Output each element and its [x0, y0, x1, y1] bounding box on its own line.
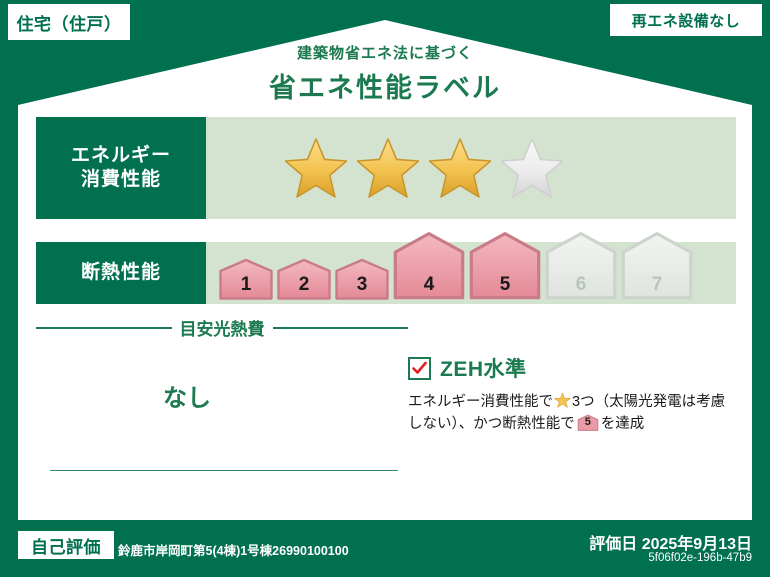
energy-performance-row: エネルギー 消費性能	[36, 117, 736, 219]
page-title: 省エネ性能ラベル	[0, 66, 770, 105]
insulation-rank-number: 4	[392, 274, 466, 296]
energy-performance-value	[206, 117, 736, 219]
rule-right	[273, 327, 409, 329]
zeh-desc-part1: エネルギー消費性能で	[408, 394, 553, 410]
insulation-rank-scale: 1234567	[206, 242, 696, 304]
house-type-badge: 住宅（住戸）	[8, 4, 130, 40]
insulation-rank-number: 1	[218, 274, 274, 296]
insulation-rank-number: 5	[468, 274, 542, 296]
footer: 自己評価 鈴鹿市岸岡町第5(4棟)1号棟26990100100 評価日 2025…	[0, 520, 770, 577]
insulation-rank-5: 5	[468, 231, 542, 300]
property-address: 鈴鹿市岸岡町第5(4棟)1号棟26990100100	[118, 540, 349, 559]
star-icon-filled	[428, 136, 492, 200]
insulation-rank-number: 7	[620, 274, 694, 296]
inline-rank-badge: 5	[577, 414, 599, 431]
inline-rank-number: 5	[577, 414, 599, 431]
insulation-performance-label: 断熱性能	[36, 242, 206, 304]
energy-label-line1: エネルギー	[71, 145, 171, 166]
zeh-desc-part3: を達成	[601, 416, 645, 432]
zeh-block: ZEH水準 エネルギー消費性能で3つ（太陽光発電は考慮しない）、かつ断熱性能で5…	[408, 315, 736, 485]
zeh-description: エネルギー消費性能で3つ（太陽光発電は考慮しない）、かつ断熱性能で5を達成	[408, 391, 736, 436]
insulation-rank-number: 2	[276, 274, 332, 296]
self-evaluation-badge: 自己評価	[18, 531, 114, 559]
insulation-rank-4: 4	[392, 231, 466, 300]
utility-cost-block: 目安光熱費 なし	[36, 315, 408, 485]
renewable-equipment-badge: 再エネ設備なし	[610, 4, 762, 36]
energy-label-document: 住宅（住戸） 再エネ設備なし 建築物省エネ法に基づく 省エネ性能ラベル エネルギ…	[0, 0, 770, 577]
insulation-rank-3: 3	[334, 258, 390, 300]
insulation-performance-value: 1234567	[206, 242, 736, 304]
document-id: 5f06f02e-196b-47b9	[648, 552, 752, 564]
zeh-checkbox[interactable]	[408, 357, 431, 380]
insulation-rank-1: 1	[218, 258, 274, 300]
star-rating	[206, 136, 564, 200]
title-subtitle: 建築物省エネ法に基づく	[0, 42, 770, 63]
lower-section: 目安光熱費 なし ZEH水準 エネルギー消費性能で3つ（太陽光発電は考慮しない）…	[36, 315, 736, 485]
energy-label-line2: 消費性能	[81, 169, 161, 190]
insulation-rank-number: 6	[544, 274, 618, 296]
title-block: 建築物省エネ法に基づく 省エネ性能ラベル	[0, 42, 770, 105]
divider-line	[50, 470, 398, 472]
utility-cost-heading: 目安光熱費	[36, 315, 408, 340]
evaluation-date: 評価日 2025年9月13日	[589, 530, 752, 554]
rule-left	[36, 327, 172, 329]
insulation-rank-6: 6	[544, 231, 618, 300]
zeh-title: ZEH水準	[440, 353, 527, 383]
check-icon	[411, 360, 428, 377]
insulation-performance-row: 断熱性能 1234567	[36, 242, 736, 304]
star-icon-filled	[356, 136, 420, 200]
utility-cost-title: 目安光熱費	[180, 315, 265, 340]
star-icon-filled	[284, 136, 348, 200]
zeh-heading: ZEH水準	[408, 353, 736, 383]
insulation-rank-7: 7	[620, 231, 694, 300]
star-icon-inline	[554, 392, 571, 409]
energy-performance-label: エネルギー 消費性能	[36, 117, 206, 219]
insulation-rank-2: 2	[276, 258, 332, 300]
insulation-rank-number: 3	[334, 274, 390, 296]
star-icon-empty	[500, 136, 564, 200]
utility-cost-value: なし	[36, 378, 408, 413]
